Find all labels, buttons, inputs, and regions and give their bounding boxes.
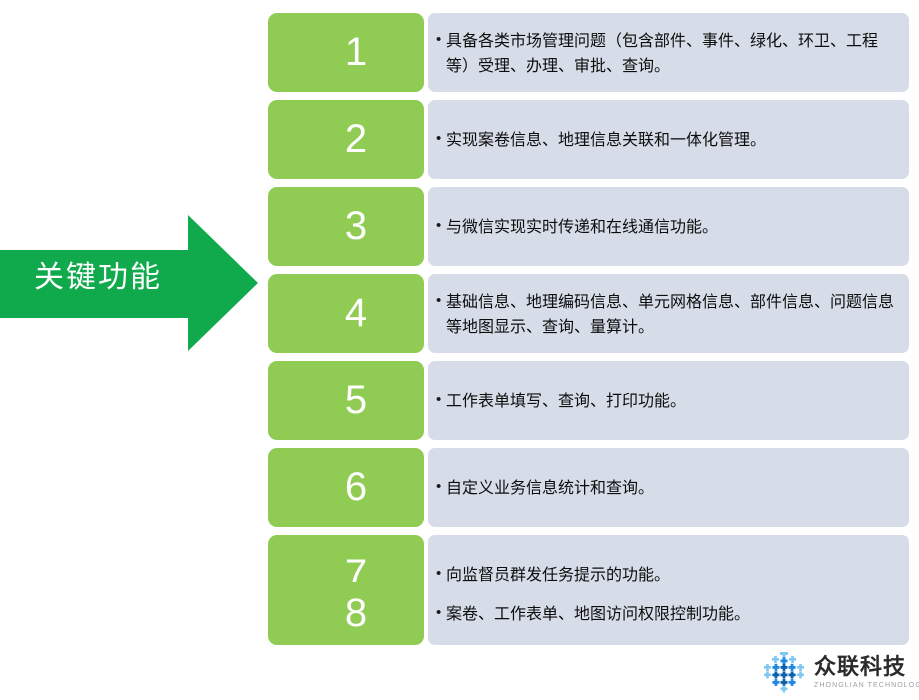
row-number-box: 2 — [268, 100, 424, 179]
bullet-icon: • — [436, 289, 445, 313]
row-text: 基础信息、地理编码信息、单元网格信息、部件信息、问题信息等地图显示、查询、量算计… — [446, 289, 899, 339]
feature-rows: 1 • 具备各类市场管理问题（包含部件、事件、绿化、环卫、工程等）受理、办理、审… — [0, 0, 919, 700]
row-number-box: 3 — [268, 187, 424, 266]
table-row[interactable]: 2 • 实现案卷信息、地理信息关联和一体化管理。 — [268, 100, 909, 179]
bullet-icon: • — [436, 475, 445, 499]
row-number: 8 — [345, 593, 367, 633]
logo-company-subtitle: ZHONGLIAN TECHNOLOGY — [814, 681, 919, 690]
row-text: 与微信实现实时传递和在线通信功能。 — [446, 214, 718, 239]
row-text-panel: • 实现案卷信息、地理信息关联和一体化管理。 — [428, 100, 909, 179]
table-row[interactable]: 4 • 基础信息、地理编码信息、单元网格信息、部件信息、问题信息等地图显示、查询… — [268, 274, 909, 353]
slide-canvas: 关键功能 1 • 具备各类市场管理问题（包含部件、事件、绿化、环卫、工程等）受理… — [0, 0, 919, 700]
row-number: 3 — [345, 206, 367, 246]
bullet-icon: • — [436, 127, 445, 151]
row-text-panel: • 自定义业务信息统计和查询。 — [428, 448, 909, 527]
row-text-panel: • 与微信实现实时传递和在线通信功能。 — [428, 187, 909, 266]
table-row[interactable]: 1 • 具备各类市场管理问题（包含部件、事件、绿化、环卫、工程等）受理、办理、审… — [268, 13, 909, 92]
row-number: 2 — [345, 119, 367, 159]
row-text: 具备各类市场管理问题（包含部件、事件、绿化、环卫、工程等）受理、办理、审批、查询… — [446, 28, 899, 78]
row-number-box: 6 — [268, 448, 424, 527]
row-text: 实现案卷信息、地理信息关联和一体化管理。 — [446, 127, 766, 152]
row-number-box: 5 — [268, 361, 424, 440]
row-text: 工作表单填写、查询、打印功能。 — [446, 388, 686, 413]
bullet-icon: • — [436, 388, 445, 412]
row-text-panel: • 案卷、工作表单、地图访问权限控制功能。 — [428, 582, 909, 645]
table-row[interactable]: 5 • 工作表单填写、查询、打印功能。 — [268, 361, 909, 440]
table-row[interactable]: 3 • 与微信实现实时传递和在线通信功能。 — [268, 187, 909, 266]
row-text-panel: • 具备各类市场管理问题（包含部件、事件、绿化、环卫、工程等）受理、办理、审批、… — [428, 13, 909, 92]
bullet-icon: • — [436, 28, 445, 52]
company-logo: 众联科技 ZHONGLIAN TECHNOLOGY — [760, 648, 912, 698]
row-number: 6 — [345, 467, 367, 507]
row-number: 4 — [345, 293, 367, 333]
bullet-icon: • — [436, 601, 445, 625]
table-row[interactable]: 6 • 自定义业务信息统计和查询。 — [268, 448, 909, 527]
row-number: 1 — [345, 32, 367, 72]
row-text-panel: • 基础信息、地理编码信息、单元网格信息、部件信息、问题信息等地图显示、查询、量… — [428, 274, 909, 353]
row-text: 案卷、工作表单、地图访问权限控制功能。 — [446, 601, 750, 626]
logo-text-block: 众联科技 ZHONGLIAN TECHNOLOGY — [814, 656, 919, 690]
row-text-panel: • 工作表单填写、查询、打印功能。 — [428, 361, 909, 440]
bullet-icon: • — [436, 214, 445, 238]
logo-company-name: 众联科技 — [814, 656, 919, 680]
row-number: 5 — [345, 380, 367, 420]
row-number-box: 1 — [268, 13, 424, 92]
row-number-box: 4 — [268, 274, 424, 353]
table-row[interactable]: 8 • 案卷、工作表单、地图访问权限控制功能。 — [268, 582, 909, 645]
zhonglian-dot-globe-logo-icon — [760, 651, 808, 695]
row-text: 自定义业务信息统计和查询。 — [446, 475, 654, 500]
row-number-box: 8 — [268, 582, 424, 645]
